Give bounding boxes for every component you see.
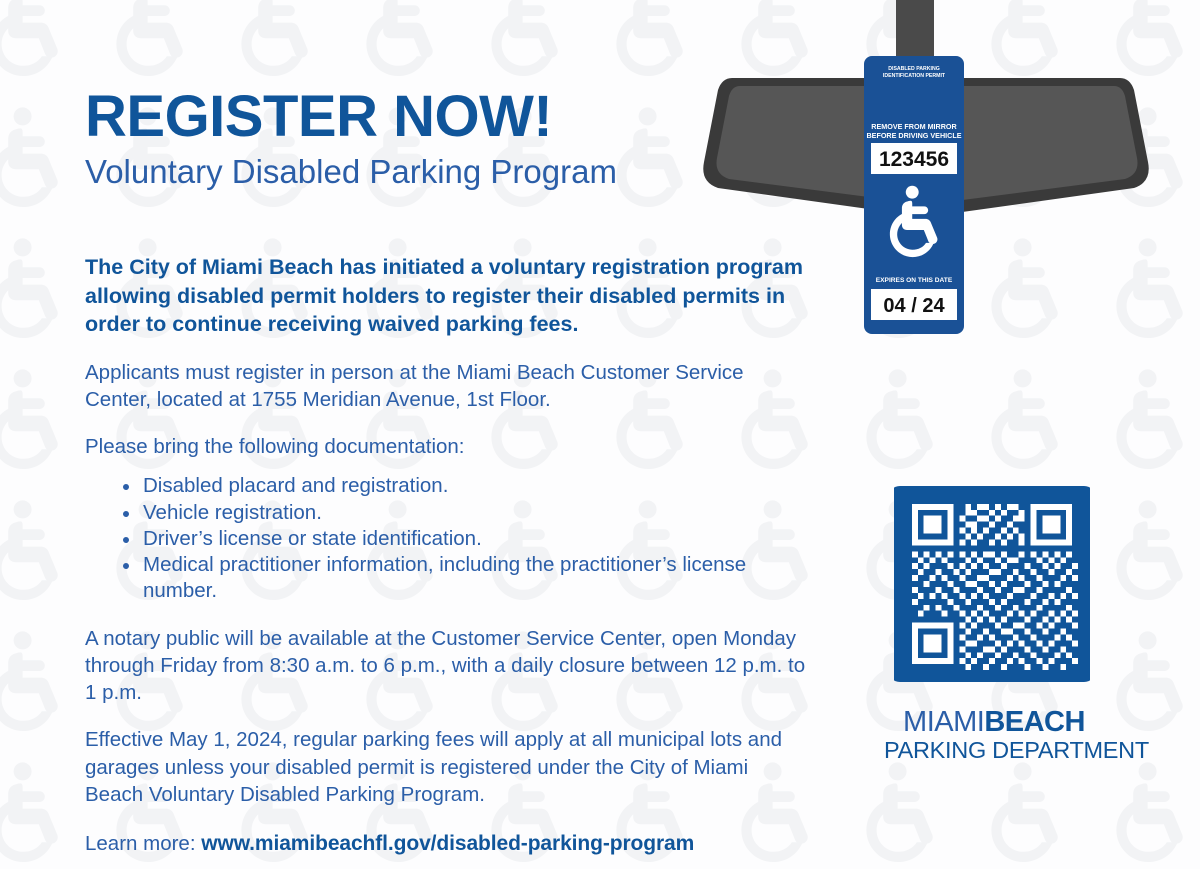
program-website-link[interactable]: www.miamibeachfl.gov/disabled-parking-pr… bbox=[201, 832, 694, 855]
applicants-paragraph: Applicants must register in person at th… bbox=[85, 359, 811, 414]
documentation-intro: Please bring the following documentation… bbox=[85, 433, 811, 460]
qr-code-icon[interactable] bbox=[888, 486, 1096, 682]
learn-more-line: Learn more: www.miamibeachfl.gov/disable… bbox=[85, 830, 825, 858]
list-item: Vehicle registration. bbox=[123, 500, 825, 526]
list-item: Disabled placard and registration. bbox=[123, 473, 825, 499]
disabled-parking-permit-hangtag: DISABLED PARKING IDENTIFICATION PERMIT R… bbox=[864, 56, 964, 334]
poster-canvas: DISABLED PARKING IDENTIFICATION PERMIT R… bbox=[0, 0, 1200, 869]
documentation-list: Disabled placard and registration. Vehic… bbox=[85, 473, 825, 604]
hangtag-top-line-2: IDENTIFICATION PERMIT bbox=[883, 73, 946, 79]
hangtag-permit-number: 123456 bbox=[879, 148, 949, 171]
hangtag-remove-line-1: REMOVE FROM MIRROR bbox=[871, 122, 957, 131]
page-title: REGISTER NOW! bbox=[85, 88, 825, 146]
hangtag-remove-line-2: BEFORE DRIVING VEHICLE bbox=[866, 131, 961, 140]
program-lede-paragraph: The City of Miami Beach has initiated a … bbox=[85, 253, 811, 339]
hangtag-expires-value: 04 / 24 bbox=[883, 295, 945, 317]
list-item: Driver’s license or state identification… bbox=[123, 526, 825, 552]
list-item: Medical practitioner information, includ… bbox=[123, 552, 825, 604]
logo-wordmark: MIAMIBEACH bbox=[884, 708, 1104, 737]
notary-paragraph: A notary public will be available at the… bbox=[85, 625, 811, 707]
hangtag-top-line-1: DISABLED PARKING bbox=[888, 66, 940, 72]
logo-department-text: PARKING DEPARTMENT bbox=[884, 738, 1104, 763]
logo-beach-text: BEACH bbox=[984, 706, 1085, 738]
main-content-column: REGISTER NOW! Voluntary Disabled Parking… bbox=[85, 88, 825, 858]
miami-beach-parking-logo: MIAMIBEACH PARKING DEPARTMENT bbox=[884, 708, 1104, 763]
effective-date-paragraph: Effective May 1, 2024, regular parking f… bbox=[85, 726, 811, 808]
learn-more-label: Learn more: bbox=[85, 832, 196, 855]
hangtag-expires-label: EXPIRES ON THIS DATE bbox=[876, 277, 953, 284]
page-subtitle: Voluntary Disabled Parking Program bbox=[85, 154, 825, 191]
logo-miami-text: MIAMI bbox=[903, 706, 984, 738]
